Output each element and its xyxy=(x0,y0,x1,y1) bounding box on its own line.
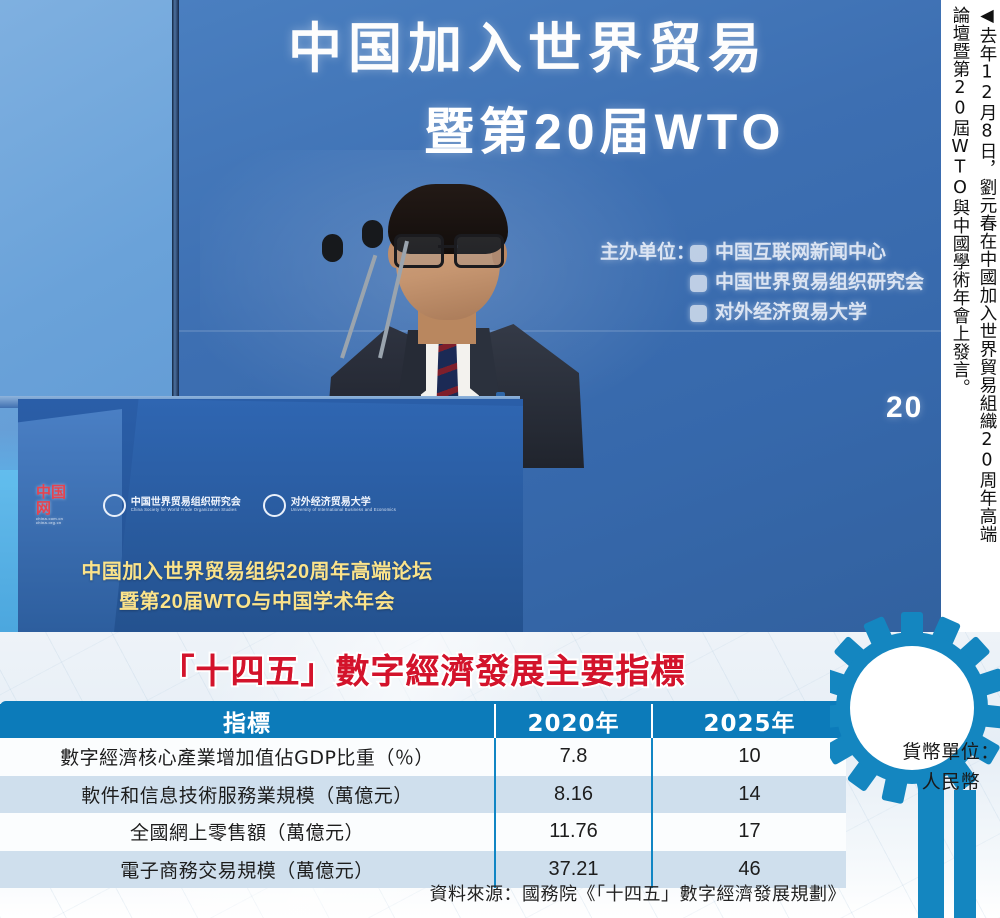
table-row: 全國網上零售額（萬億元） 11.76 17 xyxy=(0,813,846,851)
logo-china-net-url: china.com.cn china.org.cn xyxy=(36,517,81,525)
cell-2025: 10 xyxy=(652,738,846,776)
cell-indicator: 數字經濟核心產業增加值佔GDP比重（％） xyxy=(0,738,495,776)
cell-2020: 8.16 xyxy=(495,776,652,814)
banner-year-mark: 20 xyxy=(886,391,923,425)
chart-source: 資料來源：國務院《「十四五」數字經濟發展規劃》 xyxy=(0,880,846,906)
organizers-list: 中国互联网新闻中心 中国世界贸易组织研究会 对外经济贸易大学 xyxy=(690,238,924,328)
cswto-emblem-icon xyxy=(103,494,126,517)
podium-logo-row: 中国网 china.com.cn china.org.cn 中国世界贸易组织研究… xyxy=(36,487,396,523)
organizer-name: 对外经济贸易大学 xyxy=(715,298,867,328)
photo-caption: ◀去年12月8日，劉元春在中國加入世界貿易組織20周年高端 論壇暨第20屆WTO… xyxy=(941,0,1000,632)
logo-cswto: 中国世界贸易组织研究会 China Society for World Trad… xyxy=(103,494,241,517)
podium-title-line1: 中国加入世界贸易组织20周年高端论坛 xyxy=(22,557,492,587)
caption-column-1: ◀去年12月8日，劉元春在中國加入世界貿易組織20周年高端 xyxy=(973,6,1000,626)
organizer-name: 中国世界贸易组织研究会 xyxy=(715,268,924,298)
organizers-label: 主办单位： xyxy=(600,238,695,268)
organizer-logo-icon xyxy=(690,245,707,262)
mic-head xyxy=(362,220,383,248)
currency-note-line1: 貨幣單位： xyxy=(876,737,1000,767)
currency-note-line2: 人民幣 xyxy=(876,767,1000,797)
logo-cswto-label: 中国世界贸易组织研究会 China Society for World Trad… xyxy=(131,497,241,513)
logo-uibe-label: 对外经济贸易大学 University of International Bus… xyxy=(291,497,396,513)
glasses-icon xyxy=(392,234,506,264)
podium-event-title: 中国加入世界贸易组织20周年高端论坛 暨第20届WTO与中国学术年会 xyxy=(22,557,492,617)
lens-right xyxy=(454,234,504,268)
cell-2025: 17 xyxy=(652,813,846,851)
chart-title: 「十四五」數字經濟發展主要指標 xyxy=(0,644,846,693)
table-row: 軟件和信息技術服務業規模（萬億元） 8.16 14 xyxy=(0,776,846,814)
column-header-2020: 2020年 xyxy=(495,704,652,738)
organizer-logo-icon xyxy=(690,275,707,292)
infographic-page: 中国加入世界贸易 暨第20届WTO 20 主办单位： 中国互联网新闻中心 中国世… xyxy=(0,0,1000,918)
table-row: 數字經濟核心產業增加值佔GDP比重（％） 7.8 10 xyxy=(0,738,846,776)
indicators-table: 指標 2020年 2025年 數字經濟核心產業增加值佔GDP比重（％） 7.8 … xyxy=(0,704,846,888)
cell-2020: 7.8 xyxy=(495,738,652,776)
table-header-row: 指標 2020年 2025年 xyxy=(0,704,846,738)
organizer-logo-icon xyxy=(690,305,707,322)
cell-2025: 14 xyxy=(652,776,846,814)
uibe-emblem-icon xyxy=(263,494,286,517)
banner-headline-line2: 暨第20届WTO xyxy=(424,92,785,164)
column-header-indicator: 指標 xyxy=(0,704,495,738)
logo-uibe: 对外经济贸易大学 University of International Bus… xyxy=(263,494,396,517)
organizer-item: 中国世界贸易组织研究会 xyxy=(690,268,924,298)
mic-head xyxy=(322,234,343,262)
banner-headline-line1: 中国加入世界贸易 xyxy=(288,4,768,83)
logo-china-net: 中国网 china.com.cn china.org.cn xyxy=(36,485,81,525)
currency-note-text: 貨幣單位： 人民幣 xyxy=(876,737,1000,797)
cell-indicator: 全國網上零售額（萬億元） xyxy=(0,813,495,851)
currency-note-badge: 貨幣單位： 人民幣 xyxy=(830,612,1000,918)
organizer-name: 中国互联网新闻中心 xyxy=(715,238,886,268)
podium-title-line2: 暨第20届WTO与中国学术年会 xyxy=(22,587,492,617)
organizer-item: 对外经济贸易大学 xyxy=(690,298,924,328)
caption-column-2: 論壇暨第20屆WTO與中國學術年會上發言。 xyxy=(946,6,973,626)
organizer-item: 中国互联网新闻中心 xyxy=(690,238,924,268)
cell-indicator: 軟件和信息技術服務業規模（萬億元） xyxy=(0,776,495,814)
news-photo: 中国加入世界贸易 暨第20届WTO 20 主办单位： 中国互联网新闻中心 中国世… xyxy=(0,0,941,632)
cell-2020: 11.76 xyxy=(495,813,652,851)
column-header-2025: 2025年 xyxy=(652,704,846,738)
